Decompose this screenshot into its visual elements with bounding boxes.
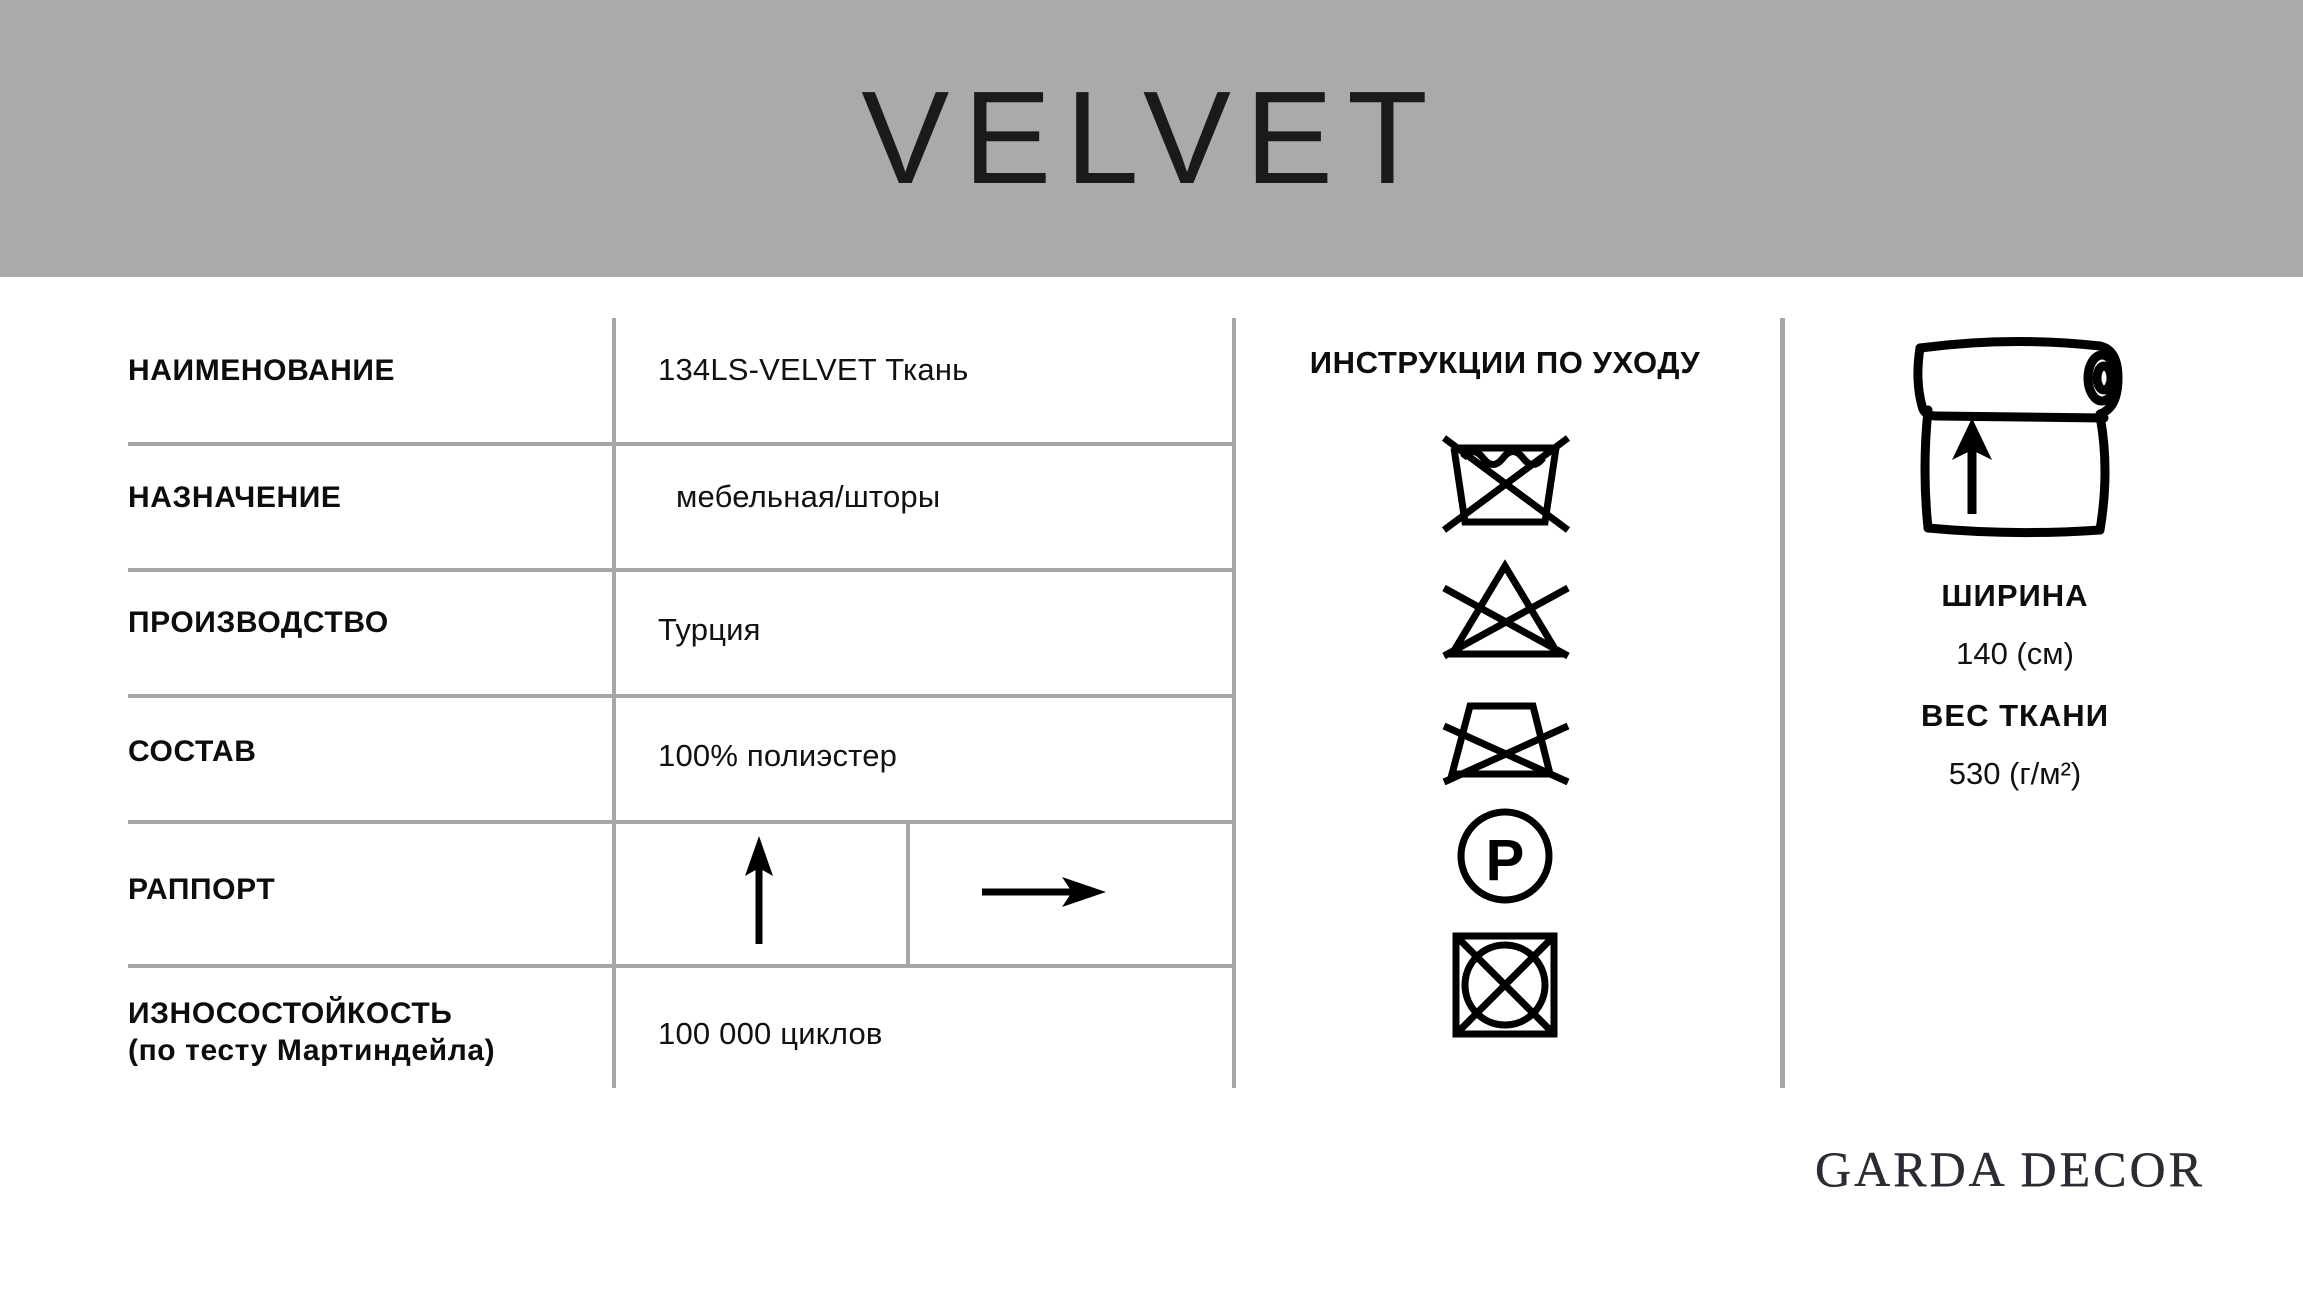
weight-value: 530 (г/м²) [1800, 756, 2230, 792]
svg-text:P: P [1486, 828, 1525, 893]
row-divider [128, 568, 1236, 572]
spec-label-sub: (по тесту Мартиндейла) [128, 1034, 495, 1067]
specification-table: НАИМЕНОВАНИЕ 134LS-VELVET Ткань НАЗНАЧЕН… [128, 318, 1236, 1088]
spec-label: ИЗНОСОСТОЙКОСТЬ (по тесту Мартиндейла) [128, 996, 495, 1069]
spec-label: РАППОРТ [128, 872, 275, 909]
care-instructions-heading: ИНСТРУКЦИИ ПО УХОДУ [1270, 345, 1740, 381]
care-symbol-do-not-wash [1270, 426, 1740, 538]
spec-value: мебельная/шторы [676, 479, 940, 515]
table-row: ИЗНОСОСТОЙКОСТЬ (по тесту Мартиндейла) 1… [128, 964, 1236, 1088]
spec-value: 100% полиэстер [658, 738, 897, 774]
width-value: 140 (см) [1800, 636, 2230, 672]
care-column-divider [1780, 318, 1785, 1088]
weight-label: ВЕС ТКАНИ [1800, 698, 2230, 734]
table-row: РАППОРТ [128, 820, 1236, 964]
care-symbol-dry-clean-p: P [1270, 800, 1740, 912]
width-label: ШИРИНА [1800, 578, 2230, 614]
row-divider [128, 964, 1236, 968]
rapport-horizontal-cell [910, 820, 1232, 964]
arrow-right-icon [910, 820, 1232, 964]
brand-logo: GARDA DECOR [1790, 1140, 2230, 1198]
fabric-roll-icon [1890, 318, 2140, 546]
table-row: СОСТАВ 100% полиэстер [128, 694, 1236, 820]
dry-clean-p-icon: P [1430, 800, 1580, 912]
spec-label: СОСТАВ [128, 734, 257, 771]
care-symbol-do-not-tumble-dry [1270, 928, 1740, 1044]
care-symbol-do-not-iron [1270, 678, 1740, 790]
do-not-tumble-dry-icon [1430, 928, 1580, 1044]
rapport-vertical-cell [612, 820, 906, 964]
do-not-wash-icon [1430, 426, 1580, 538]
roll-dimensions-column: ШИРИНА 140 (см) ВЕС ТКАНИ 530 (г/м²) [1800, 318, 2230, 792]
spec-value: 134LS-VELVET Ткань [658, 352, 969, 388]
table-row: НАЗНАЧЕНИЕ мебельная/шторы [128, 442, 1236, 568]
spec-label: НАИМЕНОВАНИЕ [128, 353, 395, 390]
page-title: VELVET [0, 72, 2303, 204]
row-divider [128, 694, 1236, 698]
care-symbol-do-not-bleach [1270, 556, 1740, 668]
do-not-iron-icon [1430, 678, 1580, 790]
spec-label-main: ИЗНОСОСТОЙКОСТЬ [128, 997, 452, 1030]
table-row: НАИМЕНОВАНИЕ 134LS-VELVET Ткань [128, 318, 1236, 442]
arrow-up-icon [612, 820, 906, 964]
spec-label: НАЗНАЧЕНИЕ [128, 480, 342, 517]
fabric-spec-card: VELVET НАИМЕНОВАНИЕ 134LS-VELVET Ткань Н… [0, 0, 2303, 1299]
spec-value: 100 000 циклов [658, 1016, 883, 1052]
row-divider [128, 442, 1236, 446]
spec-label: ПРОИЗВОДСТВО [128, 605, 389, 642]
spec-value: Турция [658, 612, 761, 648]
table-row: ПРОИЗВОДСТВО Турция [128, 568, 1236, 694]
do-not-bleach-icon [1430, 556, 1580, 668]
